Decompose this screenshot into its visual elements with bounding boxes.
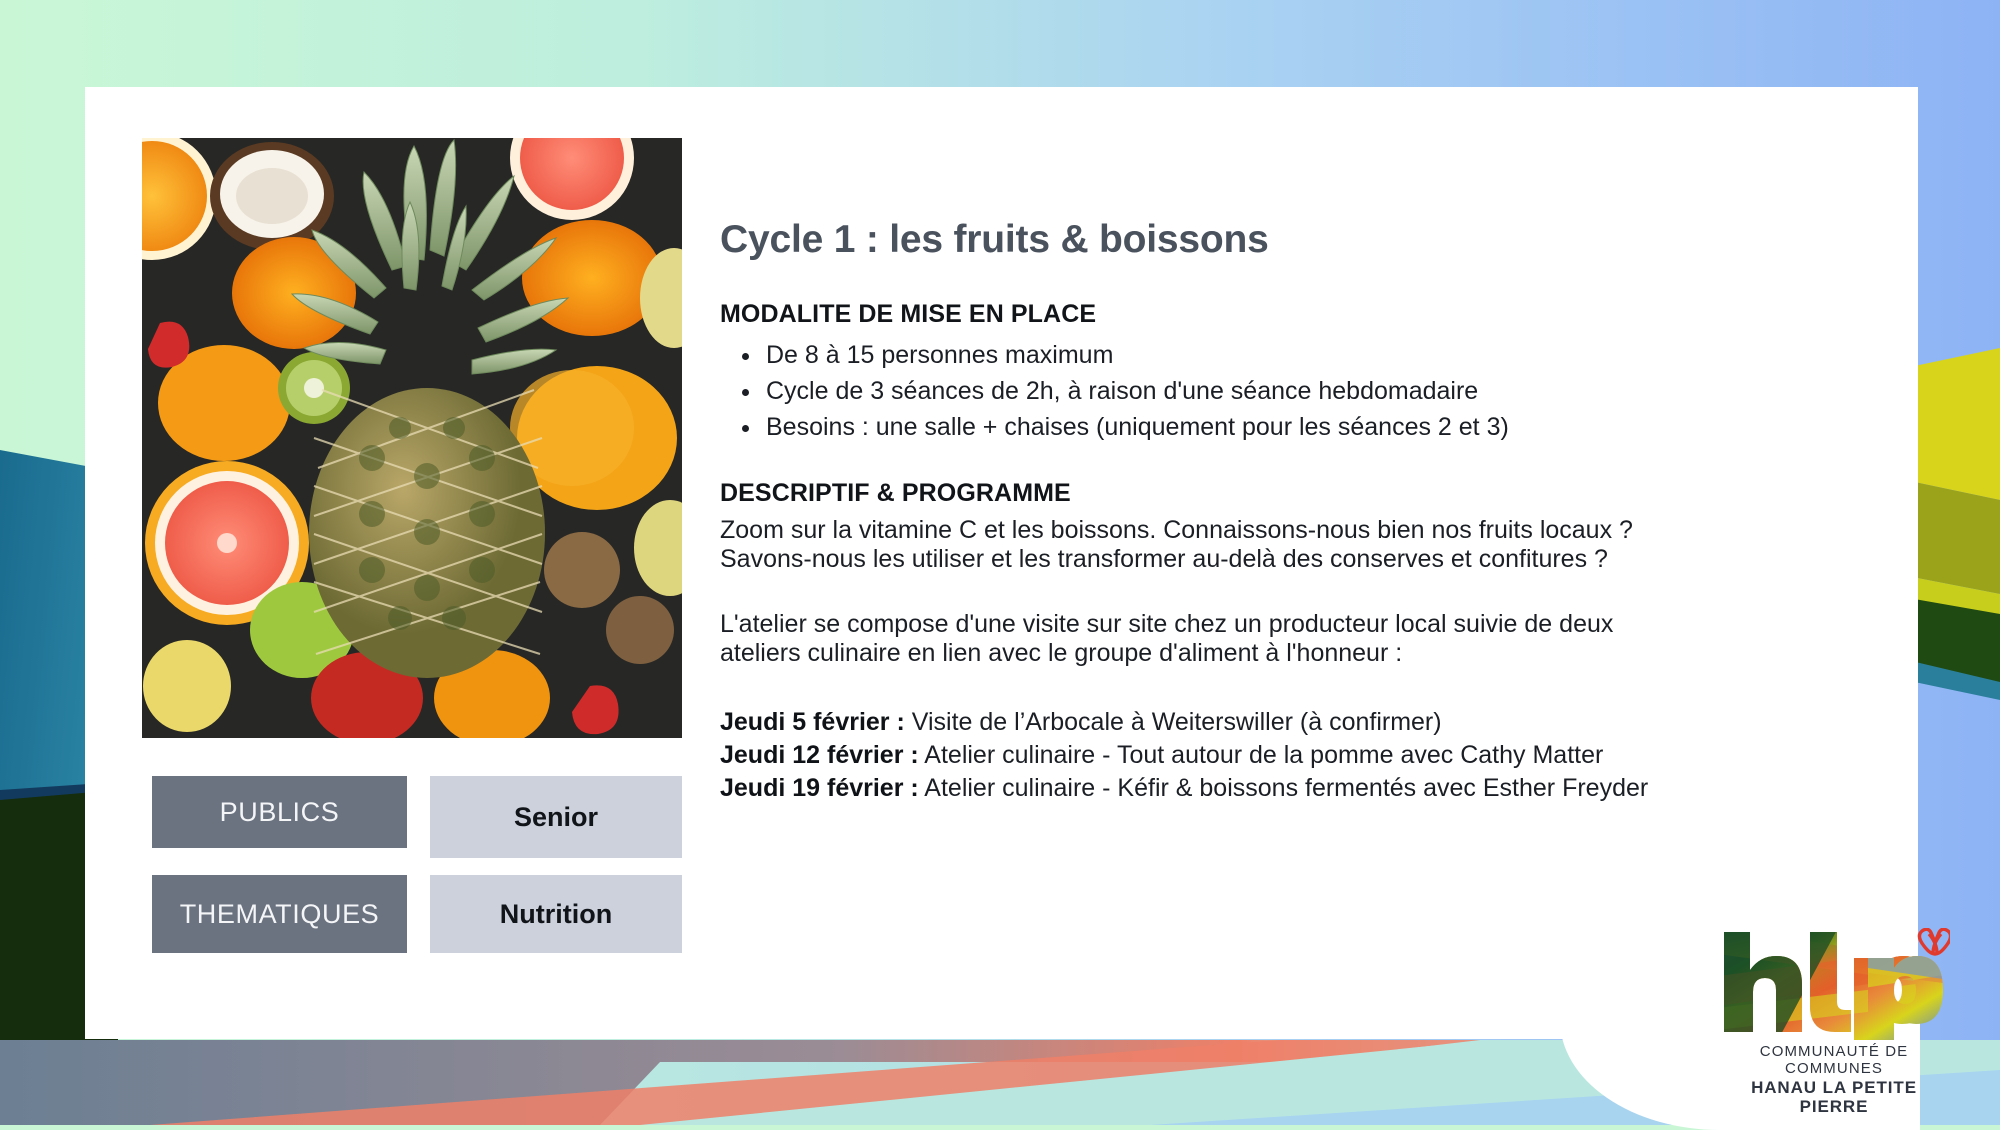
logo-caption-line-2: HANAU LA PETITE PIERRE — [1718, 1078, 1950, 1116]
list-item: Jeudi 19 février : Atelier culinaire - K… — [720, 774, 1850, 803]
page-title: Cycle 1 : les fruits & boissons — [720, 218, 1850, 262]
descriptif-paragraph-2-line-1: L'atelier se compose d'une visite sur si… — [720, 610, 1850, 639]
section-heading-modalite: MODALITE DE MISE EN PLACE — [720, 300, 1850, 329]
date-detail: Atelier culinaire - Kéfir & boissons fer… — [924, 774, 1648, 802]
hlpp-wordmark-icon — [1718, 928, 1950, 1040]
tag-row-thematiques: THEMATIQUES Nutrition — [152, 875, 682, 953]
tag-key-thematiques: THEMATIQUES — [152, 875, 407, 953]
logo-caption-line-1: COMMUNAUTÉ DE COMMUNES — [1718, 1044, 1950, 1078]
list-item: Cycle de 3 séances de 2h, à raison d'une… — [766, 373, 1850, 409]
section-heading-descriptif: DESCRIPTIF & PROGRAMME — [720, 479, 1850, 508]
descriptif-paragraph-1-line-2: Savons-nous les utiliser et les transfor… — [720, 545, 1850, 574]
list-item: De 8 à 15 personnes maximum — [766, 337, 1850, 373]
hlpp-logo: COMMUNAUTÉ DE COMMUNES HANAU LA PETITE P… — [1718, 928, 1950, 1088]
bretzel-icon — [1919, 929, 1950, 954]
logo-caption: COMMUNAUTÉ DE COMMUNES HANAU LA PETITE P… — [1718, 1044, 1950, 1116]
date-label: Jeudi 5 février : — [720, 708, 905, 736]
card-text-content: Cycle 1 : les fruits & boissons MODALITE… — [720, 218, 1850, 807]
descriptif-paragraph-1-line-1: Zoom sur la vitamine C et les boissons. … — [720, 516, 1850, 545]
fruit-photo — [142, 138, 682, 738]
tag-key-publics: PUBLICS — [152, 776, 407, 848]
date-label: Jeudi 12 février : — [720, 741, 919, 769]
list-item: Besoins : une salle + chaises (uniquemen… — [766, 409, 1850, 445]
modalite-bullet-list: De 8 à 15 personnes maximum Cycle de 3 s… — [720, 337, 1850, 445]
list-item: Jeudi 5 février : Visite de l’Arbocale à… — [720, 708, 1850, 737]
tag-value-senior: Senior — [430, 776, 682, 858]
tag-value-nutrition: Nutrition — [430, 875, 682, 953]
session-dates-list: Jeudi 5 février : Visite de l’Arbocale à… — [720, 708, 1850, 803]
date-detail: Atelier culinaire - Tout autour de la po… — [924, 741, 1603, 769]
descriptif-paragraph-2-line-2: ateliers culinaire en lien avec le group… — [720, 639, 1850, 668]
date-detail: Visite de l’Arbocale à Weiterswiller (à … — [912, 708, 1442, 736]
date-label: Jeudi 19 février : — [720, 774, 919, 802]
list-item: Jeudi 12 février : Atelier culinaire - T… — [720, 741, 1850, 770]
tag-row-publics: PUBLICS Senior — [152, 776, 682, 858]
